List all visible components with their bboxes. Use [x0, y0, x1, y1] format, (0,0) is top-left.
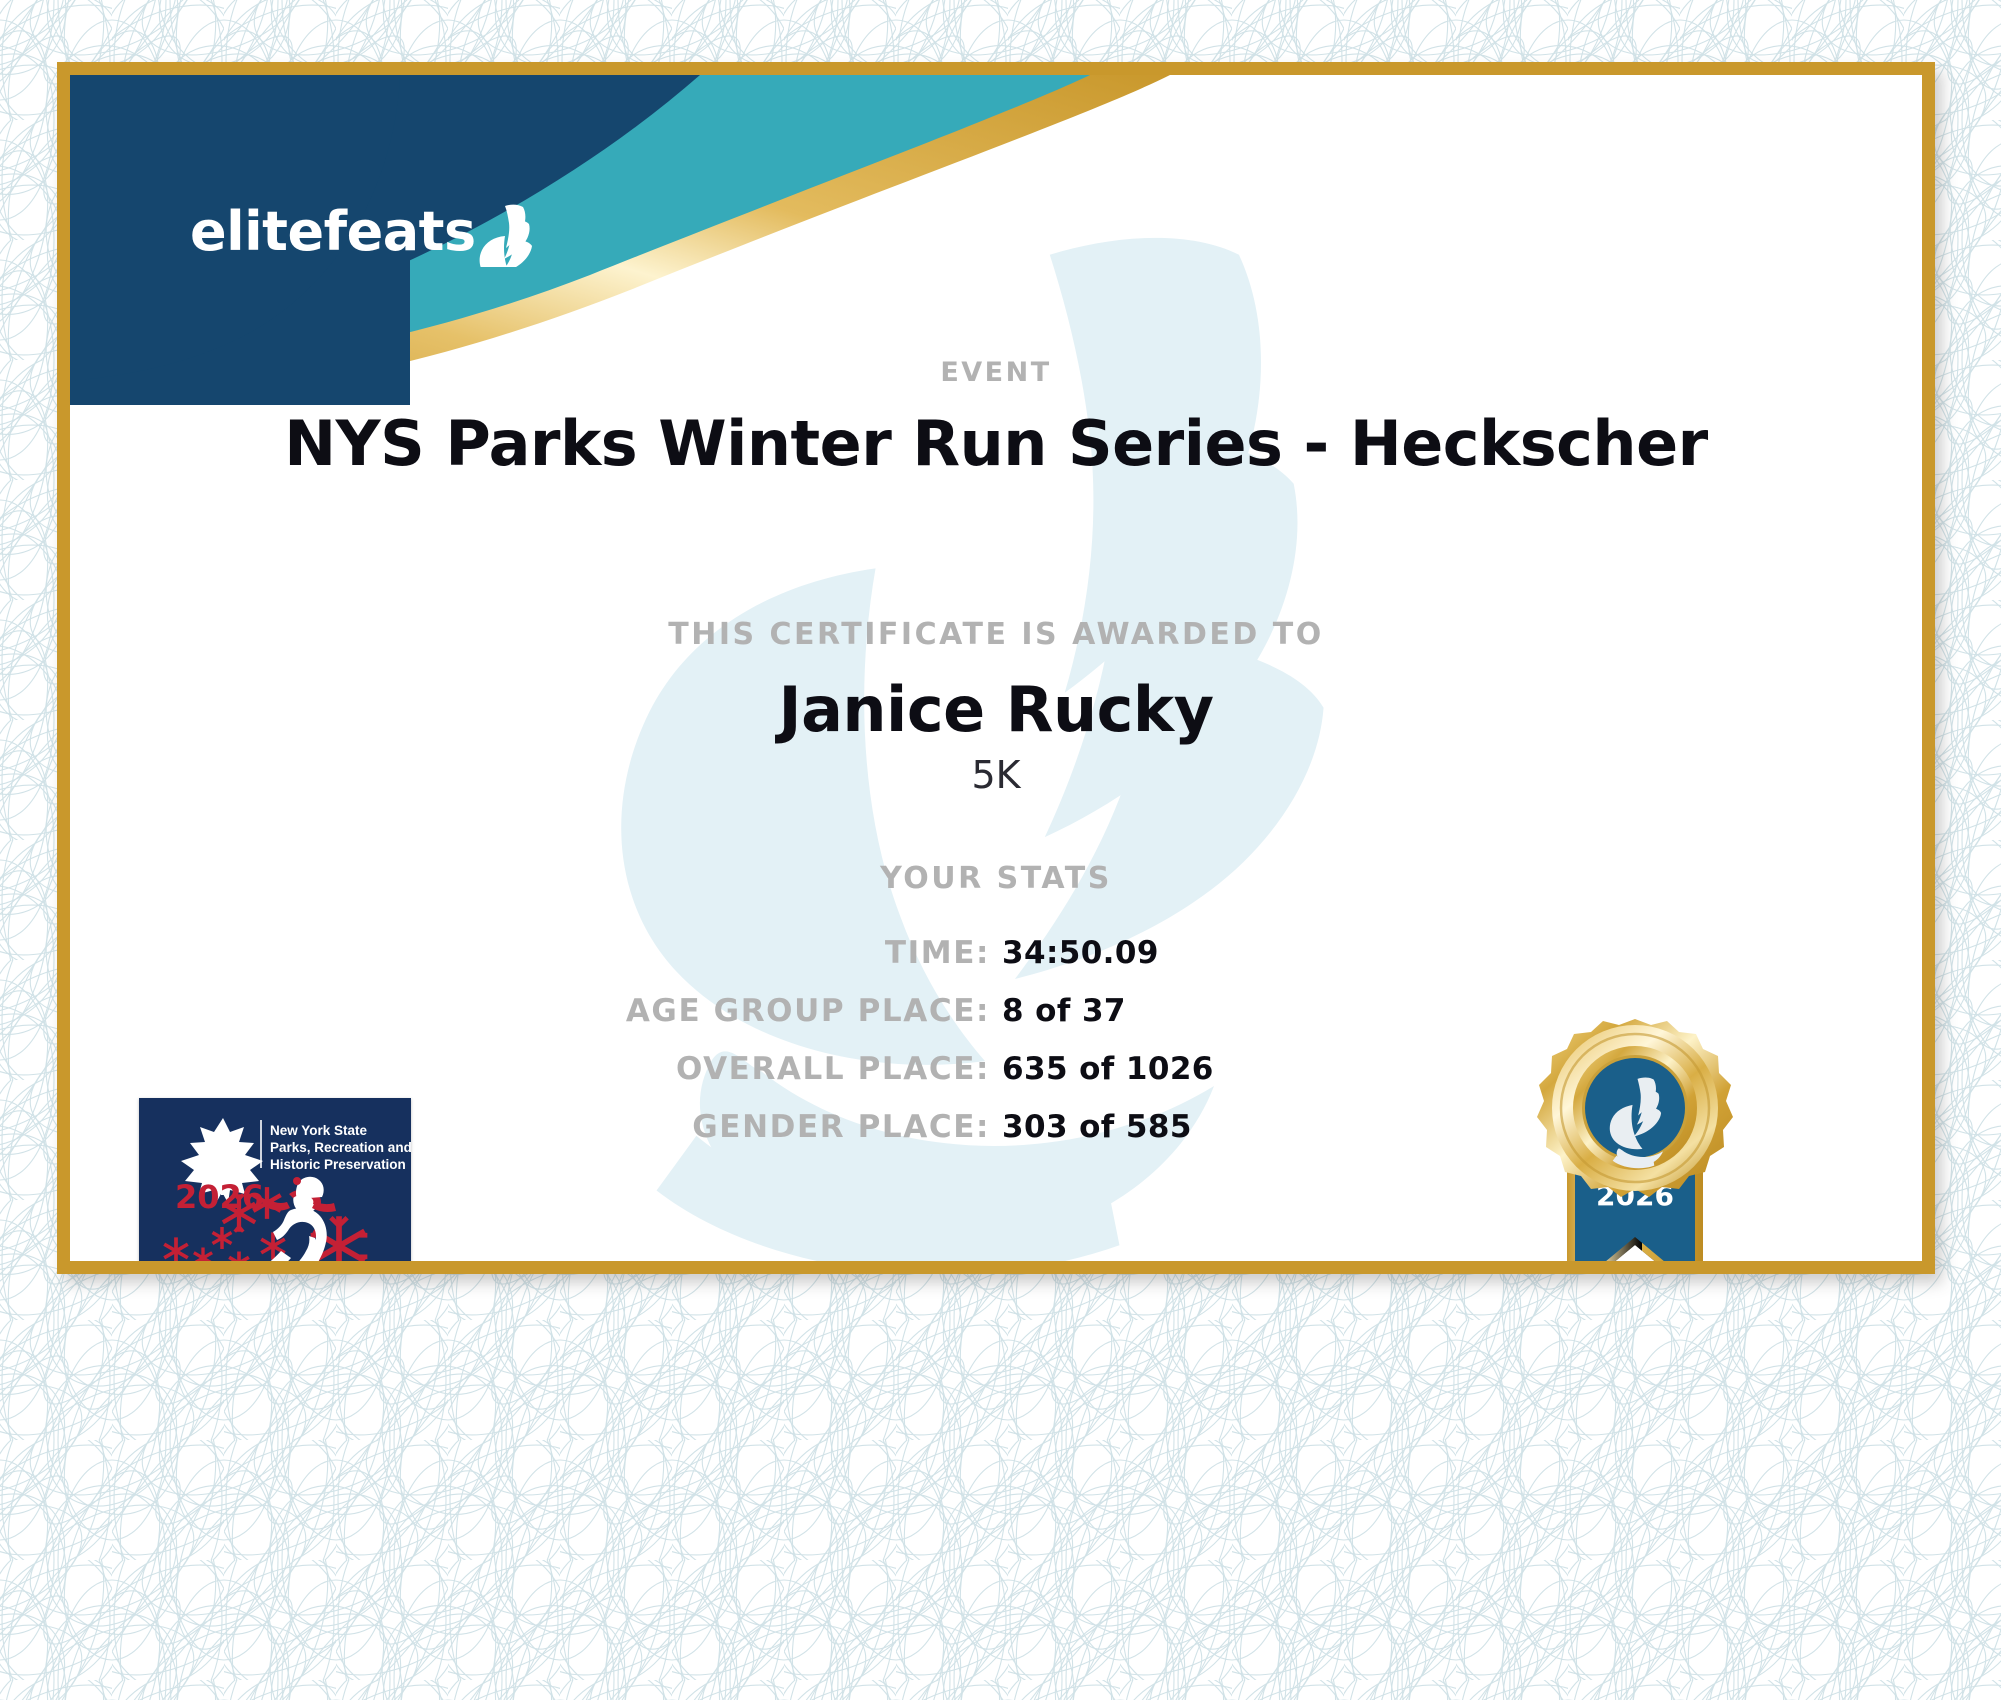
event-title: NYS Parks Winter Run Series - Heckscher	[70, 407, 1922, 480]
finisher-medal-badge: 2026	[1470, 1005, 1800, 1261]
stat-value: 8 of 37	[990, 993, 1457, 1029]
certificate-body: elitefeats EVENT NYS Parks Winter Run Se…	[70, 75, 1922, 1261]
your-stats-label: YOUR STATS	[70, 861, 1922, 896]
brand-wordmark: elitefeats	[190, 205, 476, 259]
stat-value: 635 of 1026	[990, 1051, 1457, 1087]
stat-value: 34:50.09	[990, 935, 1457, 971]
certificate-page: elitefeats EVENT NYS Parks Winter Run Se…	[0, 0, 2001, 1700]
stat-key: AGE GROUP PLACE:	[535, 993, 990, 1029]
event-label: EVENT	[70, 357, 1922, 388]
stat-row-time: TIME: 34:50.09	[70, 935, 1922, 971]
stat-value: 303 of 585	[990, 1109, 1457, 1145]
stat-key: TIME:	[535, 935, 990, 971]
race-distance: 5K	[70, 753, 1922, 797]
stat-key: OVERALL PLACE:	[535, 1051, 990, 1087]
logo-year: 2026	[175, 1178, 264, 1216]
medal-rosette	[1537, 1019, 1733, 1197]
agency-line-1: New York State	[270, 1123, 368, 1138]
elitefeats-logo: elitefeats	[190, 197, 542, 267]
stat-key: GENDER PLACE:	[535, 1109, 990, 1145]
awarded-to-label: THIS CERTIFICATE IS AWARDED TO	[70, 617, 1922, 652]
agency-line-2: Parks, Recreation and	[270, 1140, 411, 1155]
agency-line-3: Historic Preservation	[270, 1157, 406, 1172]
winter-run-series-logo: New York State Parks, Recreation and His…	[139, 1098, 411, 1261]
recipient-name: Janice Rucky	[70, 673, 1922, 746]
certificate-frame: elitefeats EVENT NYS Parks Winter Run Se…	[57, 62, 1935, 1274]
winged-foot-icon	[478, 203, 542, 267]
